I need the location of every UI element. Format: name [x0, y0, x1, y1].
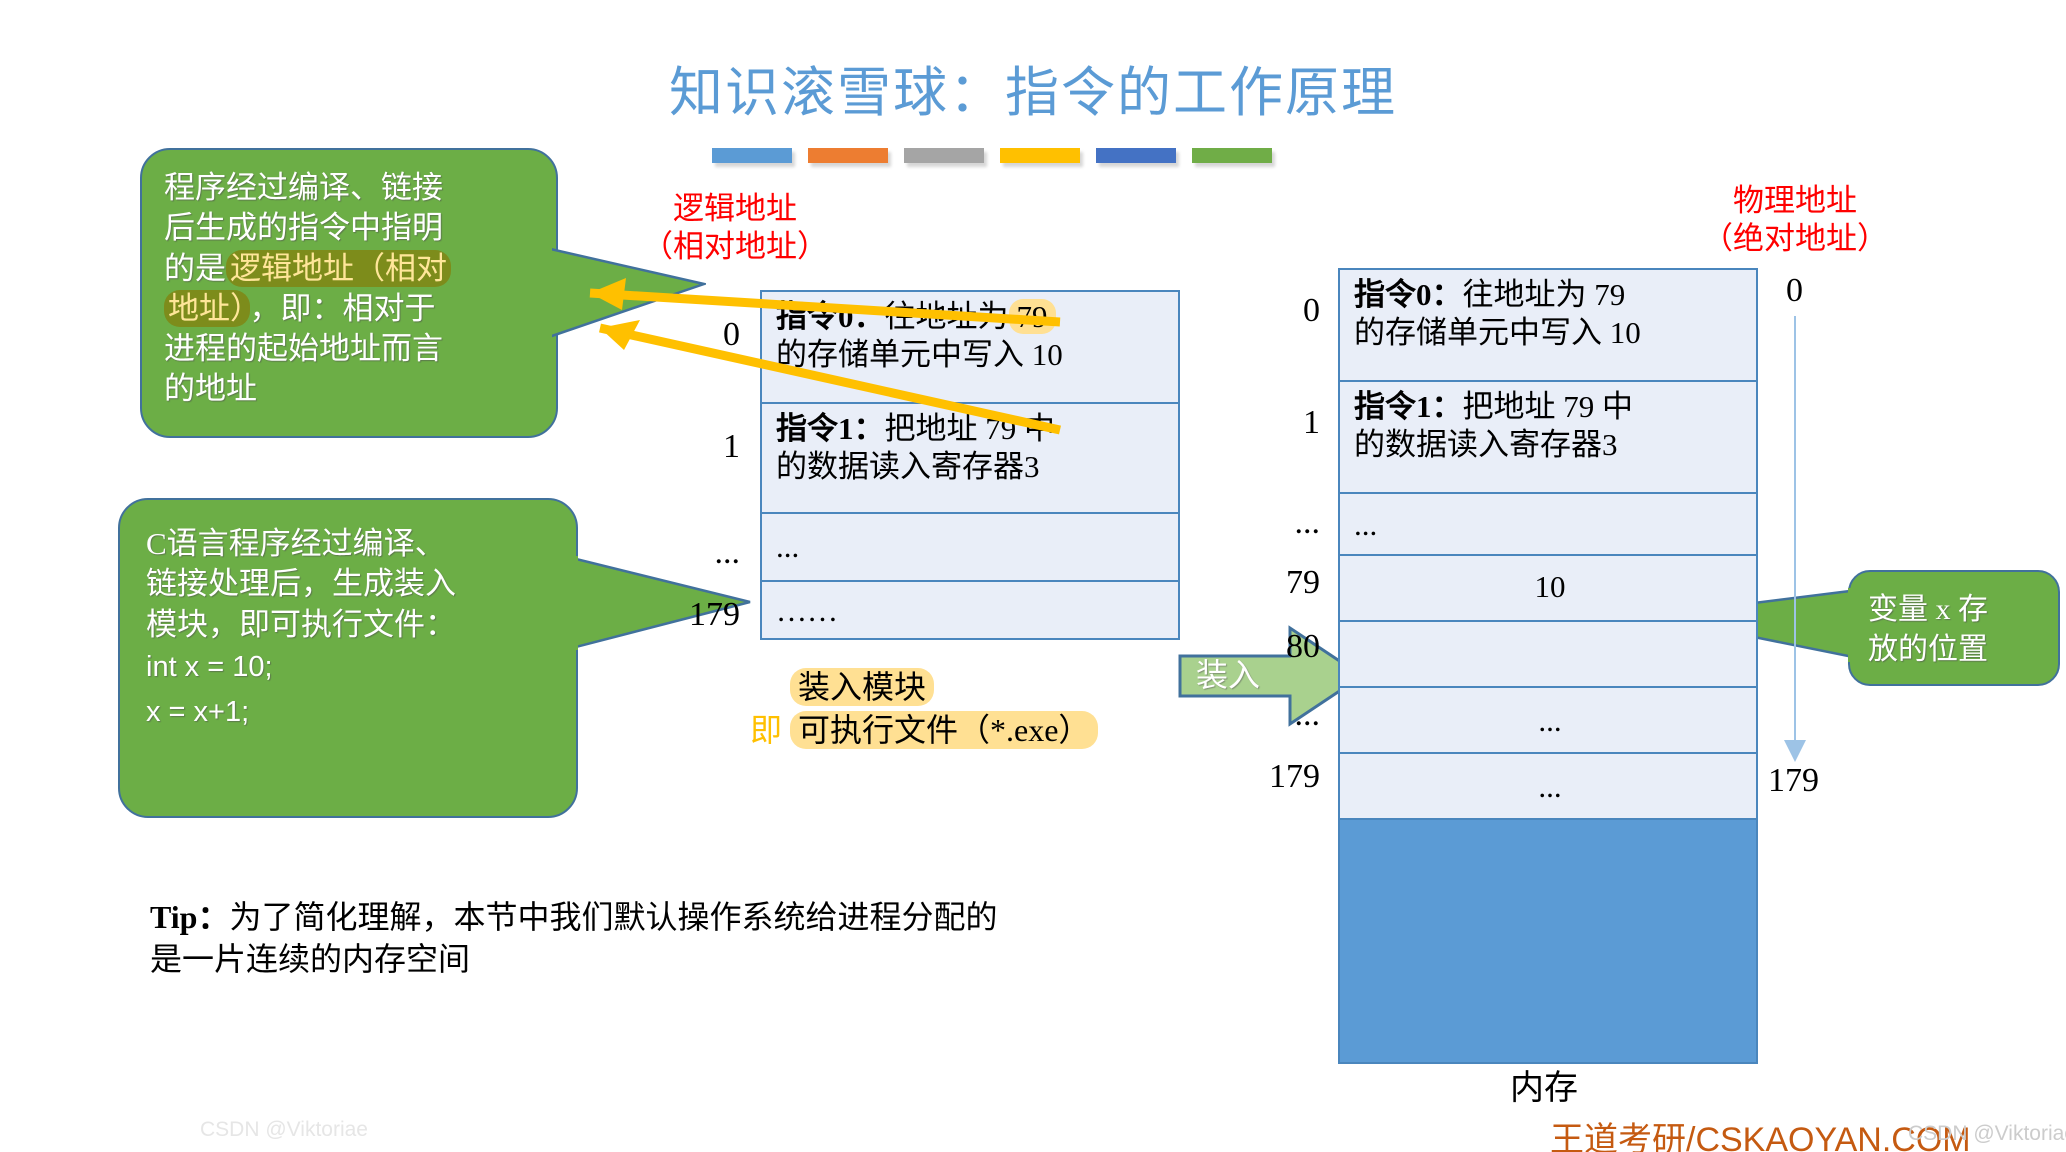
- callout-logical-line3-pre: 的是: [164, 251, 226, 286]
- callout-logical-highlight-1: 逻辑地址（相对: [226, 250, 451, 287]
- tip-line2: 是一片连续的内存空间: [150, 938, 1250, 980]
- tip-text: Tip：为了简化理解，本节中我们默认操作系统给进程分配的 是一片连续的内存空间: [150, 896, 1250, 980]
- accent-bar-green: [1192, 148, 1272, 163]
- memory-label: 内存: [1510, 1060, 1578, 1109]
- physical-memory-table: 指令0：往地址为 79的存储单元中写入 10 指令1：把地址 79 中的数据读入…: [1338, 268, 1758, 1064]
- physical-row-1-text-b: 的数据读入寄存器3: [1354, 427, 1618, 462]
- physical-addr-4: 80: [1240, 628, 1320, 666]
- csdn-watermark: CSDN @Viktoriae: [1908, 1122, 2066, 1146]
- label-physical-address-main: 物理地址: [1690, 182, 1900, 220]
- logical-row-1-bold: 指令1：: [776, 411, 885, 446]
- callout-varx-line2: 放的位置: [1868, 630, 2046, 670]
- logical-addr-0: 0: [660, 316, 740, 354]
- logical-row-0-text-a: 往地址为: [885, 299, 1009, 334]
- physical-addr-0: 0: [1240, 292, 1320, 330]
- physical-row-0: 指令0：往地址为 79的存储单元中写入 10: [1340, 270, 1756, 382]
- callout-cprog-line3: 模块，即可执行文件：: [146, 605, 554, 645]
- accent-bar-blue: [712, 148, 792, 163]
- load-module-highlight-1: 装入模块: [790, 668, 934, 706]
- callout-varx-line1: 变量 x 存: [1868, 590, 2046, 630]
- logical-addr-3: 179: [660, 596, 740, 634]
- logical-row-2: ...: [762, 514, 1178, 582]
- callout-variable-x-location: 变量 x 存 放的位置: [1848, 570, 2060, 686]
- logical-address-table: 指令0：往地址为79的存储单元中写入 10 指令1：把地址 79 中的数据读入寄…: [760, 290, 1180, 640]
- slide-canvas: 知识滚雪球：指令的工作原理 程序经过编译、链接 后生成的指令中指明 的是逻辑地址…: [0, 0, 2066, 1152]
- physical-row-1-bold: 指令1：: [1354, 389, 1463, 424]
- load-module-text: 即 装入模块 即 可执行文件（*.exe）: [750, 666, 1170, 752]
- load-module-line2: 即 可执行文件（*.exe）: [750, 709, 1170, 752]
- logical-address-column: 0 1 ... 179: [660, 290, 740, 650]
- logical-row-1: 指令1：把地址 79 中的数据读入寄存器3: [762, 404, 1178, 514]
- load-module-highlight-2: 可执行文件（*.exe）: [790, 711, 1098, 749]
- callout-cprog-code-line2: x = x+1;: [146, 690, 554, 735]
- csdn-watermark-left: CSDN @Viktoriae: [200, 1118, 368, 1142]
- callout-logical-address: 程序经过编译、链接 后生成的指令中指明 的是逻辑地址（相对 地址），即：相对于 …: [140, 148, 558, 438]
- axis-label-bottom: 179: [1768, 762, 1819, 800]
- callout-logical-line4-post: ，即：相对于: [250, 291, 436, 326]
- page-title: 知识滚雪球：指令的工作原理: [0, 48, 2066, 127]
- physical-row-0-bold: 指令0：: [1354, 277, 1463, 312]
- physical-row-1-text-a: 把地址 79 中: [1463, 389, 1634, 424]
- physical-row-6: ...: [1340, 754, 1756, 820]
- physical-addr-1: 1: [1240, 404, 1320, 442]
- accent-bar-darkblue: [1096, 148, 1176, 163]
- callout-logical-line2: 后生成的指令中指明: [164, 208, 536, 248]
- physical-row-0-text-b: 的存储单元中写入 10: [1354, 315, 1641, 350]
- callout-cprog-line1: C语言程序经过编译、: [146, 524, 554, 564]
- load-module-line1: 即 装入模块: [750, 666, 1170, 709]
- label-logical-address-main: 逻辑地址: [630, 190, 840, 228]
- physical-row-1: 指令1：把地址 79 中的数据读入寄存器3: [1340, 382, 1756, 494]
- physical-row-0-text-a: 往地址为 79: [1463, 277, 1626, 312]
- physical-addr-6: 179: [1240, 758, 1320, 796]
- accent-bar-yellow: [1000, 148, 1080, 163]
- physical-addr-3: 79: [1240, 564, 1320, 602]
- logical-row-0: 指令0：往地址为79的存储单元中写入 10: [762, 292, 1178, 404]
- callout-logical-highlight-2: 地址）: [164, 290, 250, 327]
- logical-row-1-text-b: 的数据读入寄存器3: [776, 449, 1040, 484]
- tip-line1-text: 为了简化理解，本节中我们默认操作系统给进程分配的: [229, 899, 997, 935]
- callout-cprog-line2: 链接处理后，生成装入: [146, 564, 554, 604]
- physical-row-7-free-space: [1340, 820, 1756, 1062]
- load-module-ji: 即: [750, 712, 782, 748]
- callout-logical-line4: 地址），即：相对于: [164, 289, 536, 329]
- physical-row-4-empty: [1340, 622, 1756, 688]
- callout-logical-line5: 进程的起始地址而言: [164, 329, 536, 369]
- label-logical-address-sub: （相对地址）: [630, 228, 840, 266]
- logical-row-1-text-a: 把地址 79 中: [885, 411, 1056, 446]
- logical-row-0-bold: 指令0：: [776, 299, 885, 334]
- physical-row-5: ...: [1340, 688, 1756, 754]
- physical-address-column: 0 1 ... 79 80 ... 179: [1240, 268, 1320, 828]
- logical-row-0-text-b: 的存储单元中写入 10: [776, 337, 1063, 372]
- accent-bar-group: [712, 148, 1272, 163]
- axis-label-top: 0: [1786, 272, 1803, 310]
- tip-prefix: Tip：: [150, 899, 229, 935]
- physical-row-3-value-x: 10: [1340, 556, 1756, 622]
- axis-line: [1794, 316, 1796, 756]
- accent-bar-orange: [808, 148, 888, 163]
- callout-cprog-code-line1: int x = 10;: [146, 645, 554, 690]
- logical-addr-1: 1: [660, 428, 740, 466]
- label-logical-address: 逻辑地址 （相对地址）: [630, 190, 840, 266]
- logical-row-0-highlight: 79: [1009, 299, 1056, 334]
- label-physical-address-sub: （绝对地址）: [1690, 220, 1900, 258]
- callout-logical-line6: 的地址: [164, 369, 536, 409]
- physical-addr-5: ...: [1240, 696, 1320, 734]
- callout-logical-line3: 的是逻辑地址（相对: [164, 249, 536, 289]
- callout-c-program: C语言程序经过编译、 链接处理后，生成装入 模块，即可执行文件： int x =…: [118, 498, 578, 818]
- axis-arrow-head-icon: [1784, 740, 1806, 762]
- tip-line1: Tip：为了简化理解，本节中我们默认操作系统给进程分配的: [150, 896, 1250, 938]
- physical-addr-2: ...: [1240, 504, 1320, 542]
- logical-row-3: ……: [762, 582, 1178, 638]
- physical-row-2: ...: [1340, 494, 1756, 556]
- accent-bar-gray: [904, 148, 984, 163]
- callout-logical-line1: 程序经过编译、链接: [164, 168, 536, 208]
- logical-addr-2: ...: [660, 534, 740, 572]
- label-physical-address: 物理地址 （绝对地址）: [1690, 182, 1900, 258]
